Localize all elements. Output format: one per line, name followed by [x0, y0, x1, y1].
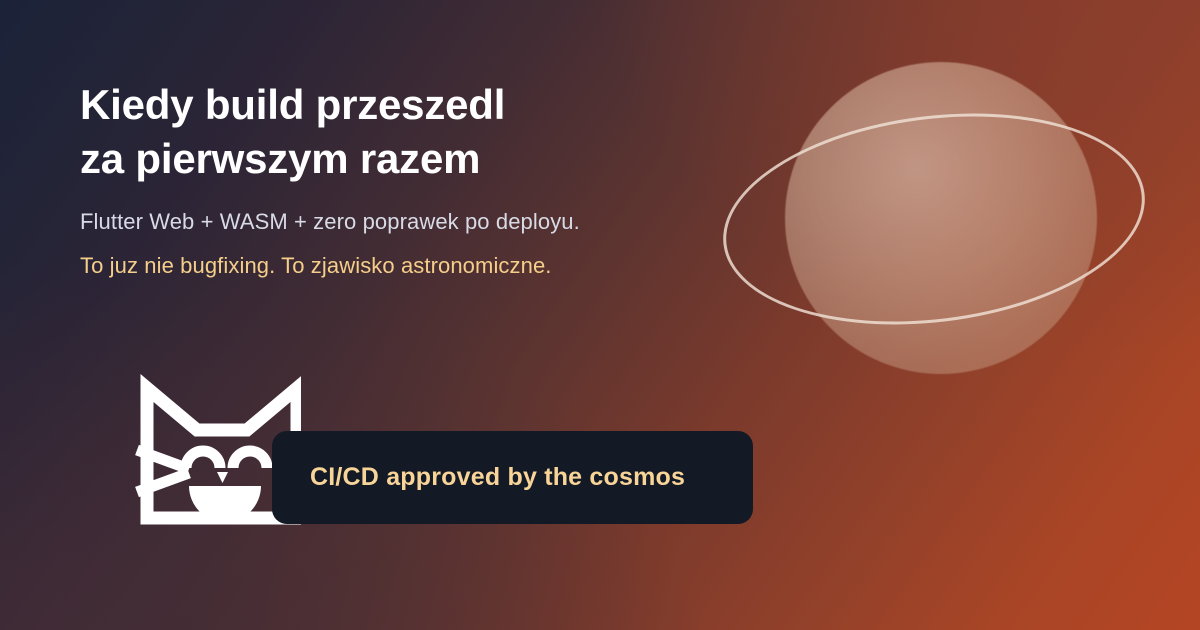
planet-ring	[711, 91, 1157, 347]
status-badge-label: CI/CD approved by the cosmos	[310, 463, 685, 492]
subtitle-line-primary: Flutter Web + WASM + zero poprawek po de…	[80, 211, 580, 233]
ringed-planet-icon	[722, 30, 1152, 410]
subtitle-line-accent: To juz nie bugfixing. To zjawisko astron…	[80, 255, 552, 277]
social-card: Kiedy build przeszedl za pierwszym razem…	[0, 0, 1200, 630]
page-title: Kiedy build przeszedl za pierwszym razem	[80, 78, 505, 186]
cat-eyes	[186, 451, 267, 468]
status-badge: CI/CD approved by the cosmos	[272, 431, 753, 524]
cat-nose	[217, 472, 228, 483]
